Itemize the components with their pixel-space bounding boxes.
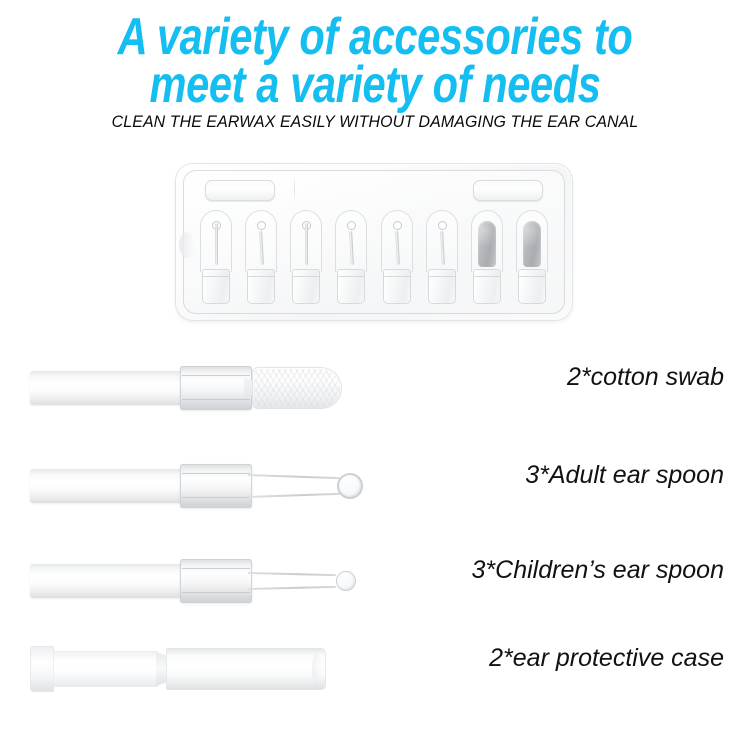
tray-seam-line — [294, 176, 295, 202]
tray-slot — [511, 210, 553, 306]
slot-ferrule-well — [518, 269, 546, 304]
tray-shell — [176, 164, 572, 320]
children-ear-spoon-illustration — [30, 550, 360, 612]
tray-well-right — [473, 180, 543, 201]
case-body — [53, 651, 158, 687]
row-label-ear-protective-case: 2*ear protective case — [489, 644, 724, 673]
headline: A variety of accessories to meet a varie… — [0, 14, 750, 110]
spoon-loop — [257, 221, 266, 230]
tray-slot — [466, 210, 508, 306]
cotton-swab-tip-icon — [523, 221, 541, 267]
handle-barrel — [30, 564, 200, 598]
slot-ferrule-well — [337, 269, 365, 304]
spoon-bulb-tip — [337, 473, 363, 499]
slot-ferrule-well — [473, 269, 501, 304]
product-feature-banner: A variety of accessories to meet a varie… — [0, 0, 750, 750]
subtitle: CLEAN THE EARWAX EASILY WITHOUT DAMAGING… — [13, 113, 737, 132]
row-label-cotton-swab: 2*cotton swab — [567, 363, 724, 392]
spoon-arm-bottom — [248, 586, 336, 590]
ear-spoon-tip-icon — [212, 223, 221, 265]
spoon-shaft — [215, 223, 218, 265]
slot-ferrule-well — [383, 269, 411, 304]
spoon-shaft — [395, 231, 400, 265]
tray-slot — [330, 210, 372, 306]
collar-ferrule — [180, 366, 252, 410]
handle-barrel — [30, 469, 200, 503]
tray-slot — [285, 210, 327, 306]
ear-spoon-tip-icon — [438, 223, 447, 265]
spoon-loop — [347, 221, 356, 230]
spoon-arm-top — [248, 572, 336, 576]
ear-spoon-tip-icon — [302, 223, 311, 265]
spoon-shaft — [305, 223, 308, 265]
tray-slot — [240, 210, 282, 306]
accessory-tray — [176, 164, 572, 320]
spoon-shaft — [350, 231, 355, 265]
ear-spoon-tip-icon — [393, 223, 402, 265]
headline-line-2: meet a variety of needs — [75, 62, 675, 110]
spoon-loop — [393, 221, 402, 230]
ear-protective-case-illustration — [30, 638, 360, 700]
collar-ferrule — [180, 464, 252, 508]
cotton-swab-head — [252, 367, 342, 409]
ear-spoon-loop — [248, 468, 363, 504]
product-row-cotton-swab: 2*cotton swab — [0, 345, 750, 435]
row-label-adult-ear-spoon: 3*Adult ear spoon — [525, 461, 724, 490]
handle-barrel — [30, 371, 200, 405]
adult-ear-spoon-illustration — [30, 455, 360, 517]
ear-spoon-tip-icon — [347, 223, 356, 265]
spoon-bulb-tip — [336, 571, 356, 591]
tray-slot-row — [189, 210, 559, 308]
collar-ferrule — [180, 559, 252, 603]
tray-slot — [421, 210, 463, 306]
spoon-arm-top — [248, 474, 340, 479]
product-row-adult-ear-spoon: 3*Adult ear spoon — [0, 443, 750, 533]
cotton-swab-illustration — [30, 357, 360, 419]
spoon-shaft — [440, 231, 445, 265]
headline-line-1: A variety of accessories to — [75, 14, 675, 62]
cotton-swab-tip-icon — [478, 221, 496, 267]
slot-ferrule-well — [292, 269, 320, 304]
ear-spoon-loop-small — [248, 563, 356, 599]
case-end-cap — [30, 646, 54, 692]
product-row-ear-protective-case: 2*ear protective case — [0, 626, 750, 716]
spoon-arm-bottom — [248, 493, 340, 498]
spoon-loop — [438, 221, 447, 230]
tray-slot — [195, 210, 237, 306]
row-label-children-ear-spoon: 3*Children’s ear spoon — [472, 556, 724, 585]
product-row-children-ear-spoon: 3*Children’s ear spoon — [0, 538, 750, 628]
tray-slot — [376, 210, 418, 306]
spoon-shaft — [259, 231, 264, 265]
slot-ferrule-well — [247, 269, 275, 304]
slot-ferrule-well — [202, 269, 230, 304]
ear-spoon-tip-icon — [257, 223, 266, 265]
slot-ferrule-well — [428, 269, 456, 304]
case-tube — [166, 648, 326, 690]
tray-well-left — [205, 180, 275, 201]
